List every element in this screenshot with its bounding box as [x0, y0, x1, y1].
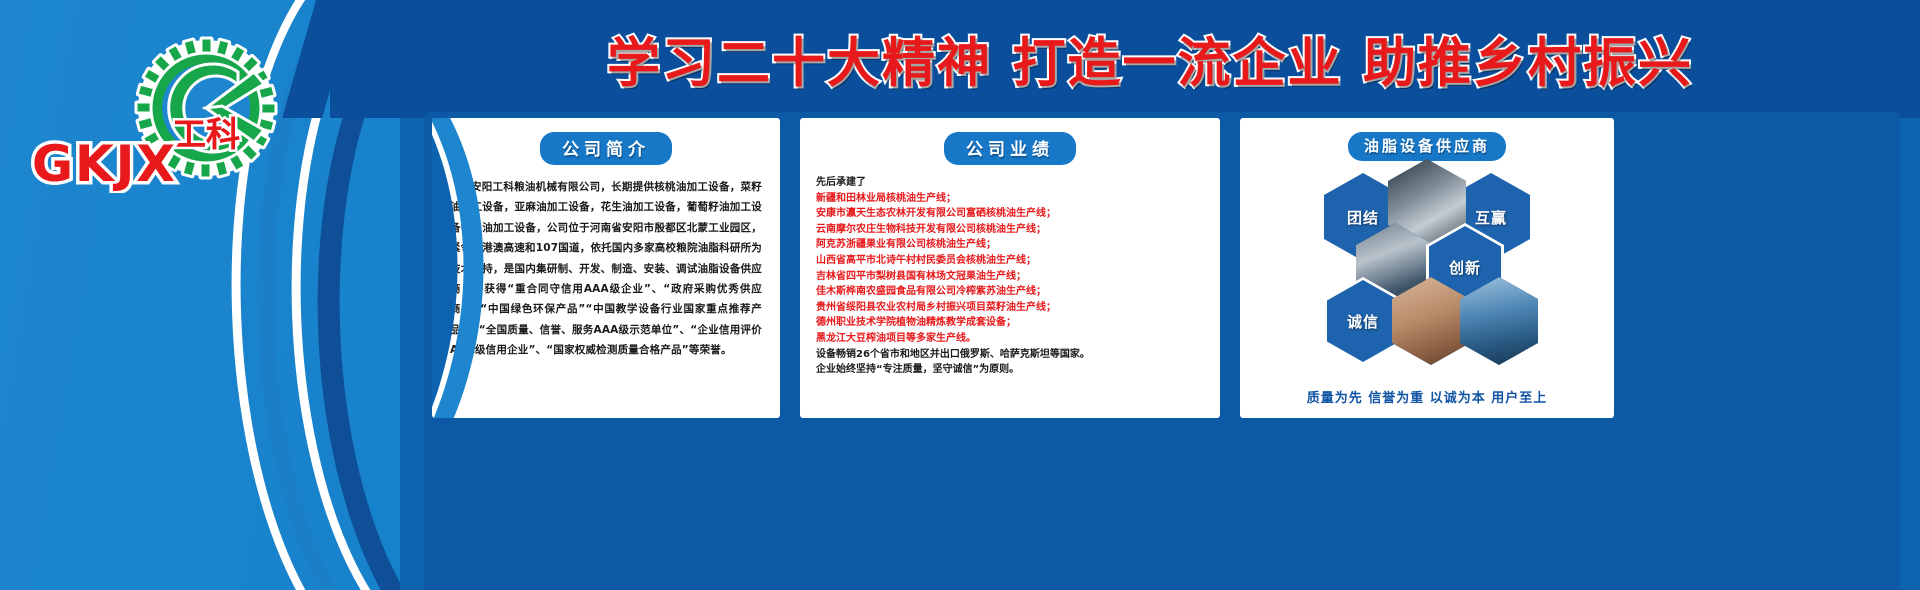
performance-item: 贵州省绥阳县农业农村局乡村振兴项目菜籽油生产线； — [816, 300, 1220, 316]
performance-item: 阿克苏浙疆果业有限公司核桃油生产线； — [816, 237, 1220, 253]
performance-tail: 设备畅销26个省市和地区并出口俄罗斯、哈萨克斯坦等国家。 — [816, 347, 1220, 363]
svg-text:GKJX: GKJX — [32, 135, 177, 193]
performance-item: 佳木斯桦南农盛园食品有限公司冷榨紫苏油生产线； — [816, 284, 1220, 300]
panel-swoosh-decoration — [432, 118, 522, 418]
bottom-blue-fill — [424, 437, 1900, 590]
panel-profile-title: 公司简介 — [540, 132, 672, 165]
panels-row: 公司简介 安阳工科粮油机械有限公司，长期提供核桃油加工设备，菜籽油加工设备，亚麻… — [432, 118, 1892, 418]
performance-item: 云南摩尔农庄生物科技开发有限公司核桃油生产线； — [816, 222, 1220, 238]
hex-winwin-label: 互赢 — [1475, 207, 1507, 228]
performance-item: 德州职业技术学院植物油精炼教学成套设备； — [816, 315, 1220, 331]
hex-integrity-inner: 诚信 — [1327, 280, 1399, 362]
performance-tail: 企业始终坚持“专注质量，坚守诚信”为原则。 — [816, 362, 1220, 378]
logo-latin-text: GKJX GKJX — [28, 133, 218, 189]
panel-equipment-supplier: 油脂设备供应商 团结 互赢 — [1240, 118, 1614, 418]
panel-performance-body: 先后承建了 新疆和田林业局核桃油生产线； 安康市瀛天生态农林开发有限公司富硒核桃… — [816, 175, 1220, 378]
panel-divider-1 — [788, 118, 792, 418]
performance-item: 安康市瀛天生态农林开发有限公司富硒核桃油生产线； — [816, 206, 1220, 222]
banner-canvas: 工科 工科 GKJX GKJX 学习二十大精神 打造一流企业 助推乡村振兴 公司… — [0, 0, 1920, 590]
performance-item: 吉林省四平市梨树县国有林场文冠果油生产线； — [816, 269, 1220, 285]
panel-divider-2 — [1228, 118, 1232, 418]
hexagon-cluster: 团结 互赢 创新 — [1240, 167, 1614, 382]
panel-supplier-title-wrap: 油脂设备供应商 — [1240, 118, 1614, 161]
supplier-slogan: 质量为先 信誉为重 以诚为本 用户至上 — [1240, 387, 1614, 406]
panel-company-performance: 公司业绩 先后承建了 新疆和田林业局核桃油生产线； 安康市瀛天生态农林开发有限公… — [800, 118, 1220, 418]
panel-performance-title: 公司业绩 — [944, 132, 1076, 165]
panel-company-profile: 公司简介 安阳工科粮油机械有限公司，长期提供核桃油加工设备，菜籽油加工设备，亚麻… — [432, 118, 780, 418]
panel-performance-title-wrap: 公司业绩 — [800, 118, 1220, 165]
hex-unity-label: 团结 — [1347, 207, 1379, 228]
panel-supplier-title: 油脂设备供应商 — [1348, 132, 1506, 161]
hex-innovation-label: 创新 — [1449, 257, 1481, 278]
hex-integrity-label: 诚信 — [1347, 311, 1379, 332]
headline-text: 学习二十大精神 打造一流企业 助推乡村振兴 — [607, 21, 1693, 97]
banner-headline: 学习二十大精神 打造一流企业 助推乡村振兴 — [400, 16, 1900, 102]
performance-item: 山西省高平市北诗午村村民委员会核桃油生产线； — [816, 253, 1220, 269]
performance-lead: 先后承建了 — [816, 175, 1220, 191]
performance-item: 新疆和田林业局核桃油生产线； — [816, 191, 1220, 207]
performance-item: 黑龙江大豆榨油项目等多家生产线。 — [816, 331, 1220, 347]
